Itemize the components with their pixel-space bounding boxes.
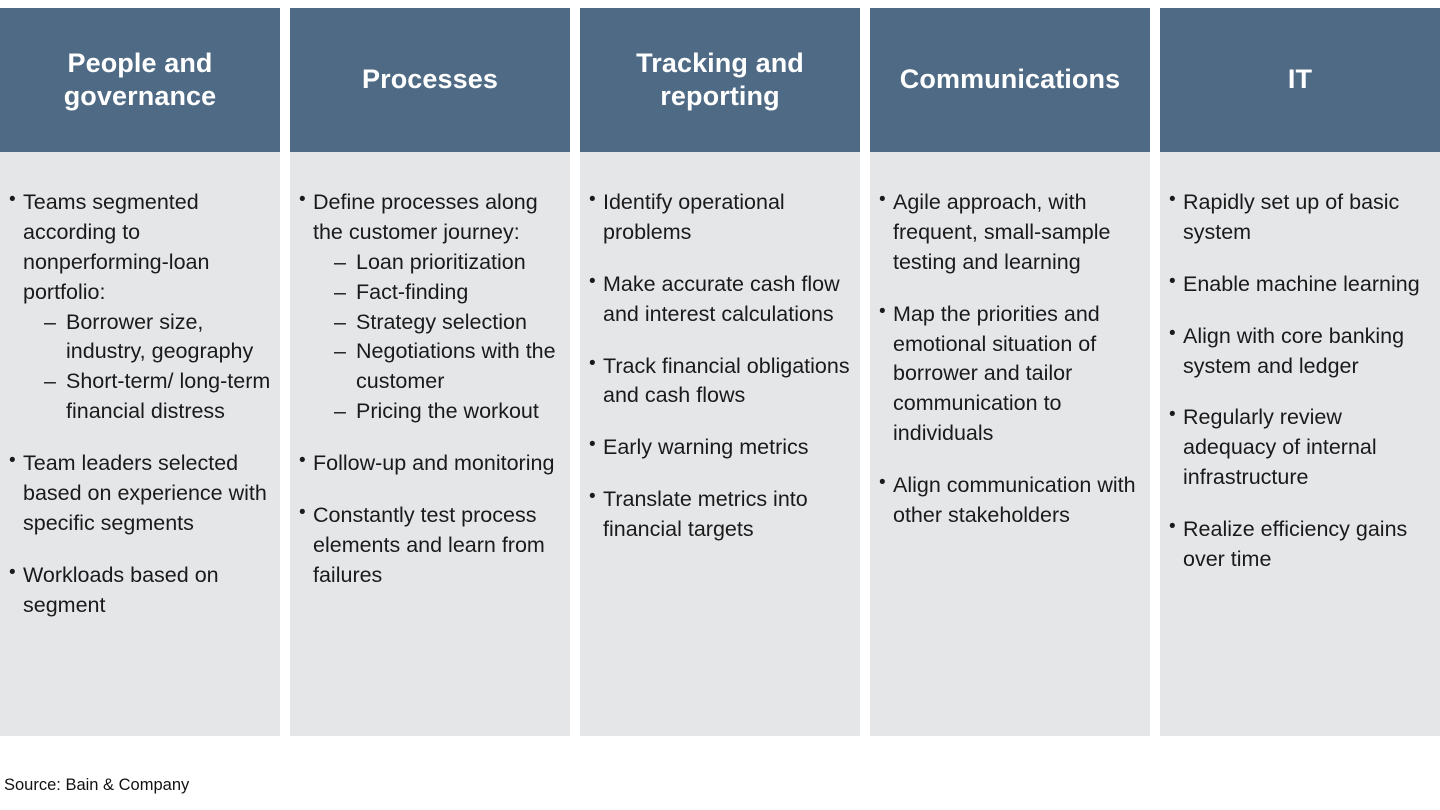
list-item: Workloads based on segment bbox=[8, 561, 272, 621]
bullet-text: Rapidly set up of basic system bbox=[1183, 188, 1432, 248]
bullet-text: Realize efficiency gains over time bbox=[1183, 515, 1432, 575]
framework-board: People and governanceTeams segmented acc… bbox=[0, 0, 1440, 810]
sub-bullet-list: Loan prioritizationFact-findingStrategy … bbox=[313, 248, 562, 427]
bullet-text: Enable machine learning bbox=[1183, 270, 1432, 300]
source-note: Source: Bain & Company bbox=[4, 776, 189, 796]
list-item: Align communication with other stakehold… bbox=[878, 471, 1142, 531]
bullet-text: Teams segmented according to nonperformi… bbox=[23, 188, 272, 308]
column-it: ITRapidly set up of basic systemEnable m… bbox=[1160, 8, 1440, 736]
bullet-list: Define processes along the customer jour… bbox=[298, 188, 562, 591]
list-item: Agile approach, with frequent, small-sam… bbox=[878, 188, 1142, 278]
list-item: Make accurate cash flow and interest cal… bbox=[588, 270, 852, 330]
column-title: Communications bbox=[900, 63, 1120, 96]
column-body-communications: Agile approach, with frequent, small-sam… bbox=[870, 152, 1150, 736]
sub-list-item: Borrower size, industry, geography bbox=[44, 308, 272, 368]
list-item: Rapidly set up of basic system bbox=[1168, 188, 1432, 248]
sub-list-item: Loan prioritization bbox=[334, 248, 562, 278]
list-item: Team leaders selected based on experienc… bbox=[8, 449, 272, 539]
bullet-text: Make accurate cash flow and interest cal… bbox=[603, 270, 852, 330]
list-item: Align with core banking system and ledge… bbox=[1168, 322, 1432, 382]
bullet-text: Regularly review adequacy of internal in… bbox=[1183, 403, 1432, 493]
bullet-text: Agile approach, with frequent, small-sam… bbox=[893, 188, 1142, 278]
bullet-list: Identify operational problemsMake accura… bbox=[588, 188, 852, 545]
column-header-it: IT bbox=[1160, 8, 1440, 152]
column-tracking-and-reporting: Tracking and reportingIdentify operation… bbox=[580, 8, 860, 736]
column-body-it: Rapidly set up of basic systemEnable mac… bbox=[1160, 152, 1440, 736]
sub-list-item: Pricing the workout bbox=[334, 397, 562, 427]
bullet-list: Rapidly set up of basic systemEnable mac… bbox=[1168, 188, 1432, 575]
column-title: Processes bbox=[362, 63, 498, 96]
sub-bullet-list: Borrower size, industry, geographyShort-… bbox=[23, 308, 272, 428]
column-body-processes: Define processes along the customer jour… bbox=[290, 152, 570, 736]
bullet-text: Workloads based on segment bbox=[23, 561, 272, 621]
column-header-tracking-and-reporting: Tracking and reporting bbox=[580, 8, 860, 152]
bullet-text: Team leaders selected based on experienc… bbox=[23, 449, 272, 539]
bullet-text: Track financial obligations and cash flo… bbox=[603, 352, 852, 412]
column-header-people-and-governance: People and governance bbox=[0, 8, 280, 152]
column-header-communications: Communications bbox=[870, 8, 1150, 152]
list-item: Enable machine learning bbox=[1168, 270, 1432, 300]
column-title: IT bbox=[1288, 63, 1312, 96]
list-item: Regularly review adequacy of internal in… bbox=[1168, 403, 1432, 493]
sub-list-item: Short-term/ long-term financial distress bbox=[44, 367, 272, 427]
bullet-text: Align with core banking system and ledge… bbox=[1183, 322, 1432, 382]
list-item: Follow-up and monitoring bbox=[298, 449, 562, 479]
bullet-text: Align communication with other stakehold… bbox=[893, 471, 1142, 531]
column-body-people-and-governance: Teams segmented according to nonperformi… bbox=[0, 152, 280, 736]
column-title: People and governance bbox=[10, 47, 270, 113]
bullet-text: Constantly test process elements and lea… bbox=[313, 501, 562, 591]
sub-list-item: Fact-finding bbox=[334, 278, 562, 308]
list-item: Constantly test process elements and lea… bbox=[298, 501, 562, 591]
bullet-text: Identify operational problems bbox=[603, 188, 852, 248]
column-body-tracking-and-reporting: Identify operational problemsMake accura… bbox=[580, 152, 860, 736]
list-item: Map the priorities and emotional situati… bbox=[878, 300, 1142, 449]
bullet-list: Teams segmented according to nonperformi… bbox=[8, 188, 272, 620]
list-item: Track financial obligations and cash flo… bbox=[588, 352, 852, 412]
bullet-text: Follow-up and monitoring bbox=[313, 449, 562, 479]
column-communications: CommunicationsAgile approach, with frequ… bbox=[870, 8, 1150, 736]
column-processes: ProcessesDefine processes along the cust… bbox=[290, 8, 570, 736]
list-item: Translate metrics into financial targets bbox=[588, 485, 852, 545]
list-item: Identify operational problems bbox=[588, 188, 852, 248]
column-header-processes: Processes bbox=[290, 8, 570, 152]
bullet-text: Define processes along the customer jour… bbox=[313, 188, 562, 248]
bullet-list: Agile approach, with frequent, small-sam… bbox=[878, 188, 1142, 531]
column-people-and-governance: People and governanceTeams segmented acc… bbox=[0, 8, 280, 736]
list-item: Teams segmented according to nonperformi… bbox=[8, 188, 272, 427]
bullet-text: Map the priorities and emotional situati… bbox=[893, 300, 1142, 449]
column-title: Tracking and reporting bbox=[590, 47, 850, 113]
list-item: Early warning metrics bbox=[588, 433, 852, 463]
list-item: Define processes along the customer jour… bbox=[298, 188, 562, 427]
sub-list-item: Strategy selection bbox=[334, 308, 562, 338]
bullet-text: Early warning metrics bbox=[603, 433, 852, 463]
bullet-text: Translate metrics into financial targets bbox=[603, 485, 852, 545]
columns-container: People and governanceTeams segmented acc… bbox=[0, 8, 1440, 736]
sub-list-item: Negotiations with the customer bbox=[334, 337, 562, 397]
list-item: Realize efficiency gains over time bbox=[1168, 515, 1432, 575]
